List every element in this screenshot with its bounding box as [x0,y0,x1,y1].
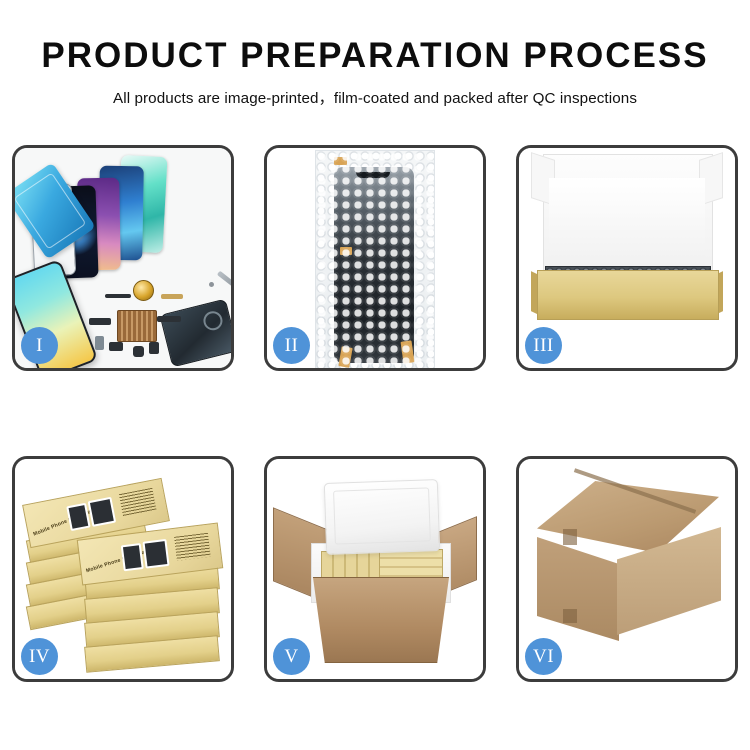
carton-left-face-icon [537,537,619,641]
process-step-1[interactable]: I [12,145,234,371]
spare-parts-group [73,280,233,368]
box-label-window-icon [121,543,144,571]
step-badge-3: III [525,327,562,364]
screw-icon [209,282,214,287]
foam-liner-icon [549,178,705,272]
page-subtitle: All products are image-printed，film-coat… [0,86,750,108]
coil-part-icon [133,280,154,301]
screw-grid-icon [117,310,157,342]
speaker-part-icon [149,342,159,354]
page-header: PRODUCT PREPARATION PROCESS All products… [0,0,750,108]
gold-connector-icon [161,294,183,299]
bubble-wrap-bag-icon [315,150,435,371]
process-step-3[interactable]: III [516,145,738,371]
process-step-grid: I II III [12,145,738,682]
box-label-spec-lines-icon [174,533,211,561]
process-step-2[interactable]: II [264,145,486,371]
flex-cable-icon [105,294,131,298]
box-label-window-icon [66,503,90,531]
small-part-icon [109,342,123,351]
step-badge-4: IV [21,638,58,675]
kraft-box-front-icon [537,270,719,320]
carton-tape-icon [563,609,577,623]
carton-body-icon [307,577,455,663]
phone-frame-icon [159,299,234,368]
box-label-window-icon [142,539,169,569]
flex-cable-icon [157,316,181,322]
box-label-spec-lines-icon [119,488,157,517]
step-badge-5: V [273,638,310,675]
carton-tape-icon [563,529,577,545]
process-step-5[interactable]: V [264,456,486,682]
page-title: PRODUCT PREPARATION PROCESS [0,38,750,73]
camera-module-icon [133,346,144,357]
step-badge-2: II [273,327,310,364]
box-label-window-icon [88,497,117,527]
step-badge-6: VI [525,638,562,675]
foam-box-lid-icon [324,479,440,555]
process-step-4[interactable]: Mobile Phone Spare Parts Mobile Phone Sp… [12,456,234,682]
box-stack-icon: Mobile Phone Spare Parts Mobile Phone Sp… [23,473,229,669]
step-badge-1: I [21,327,58,364]
tweezers-icon [217,271,234,295]
bubble-texture-icon [316,151,434,371]
process-step-6[interactable]: VI [516,456,738,682]
sim-tray-icon [95,336,104,350]
flex-cable-icon [89,318,111,325]
